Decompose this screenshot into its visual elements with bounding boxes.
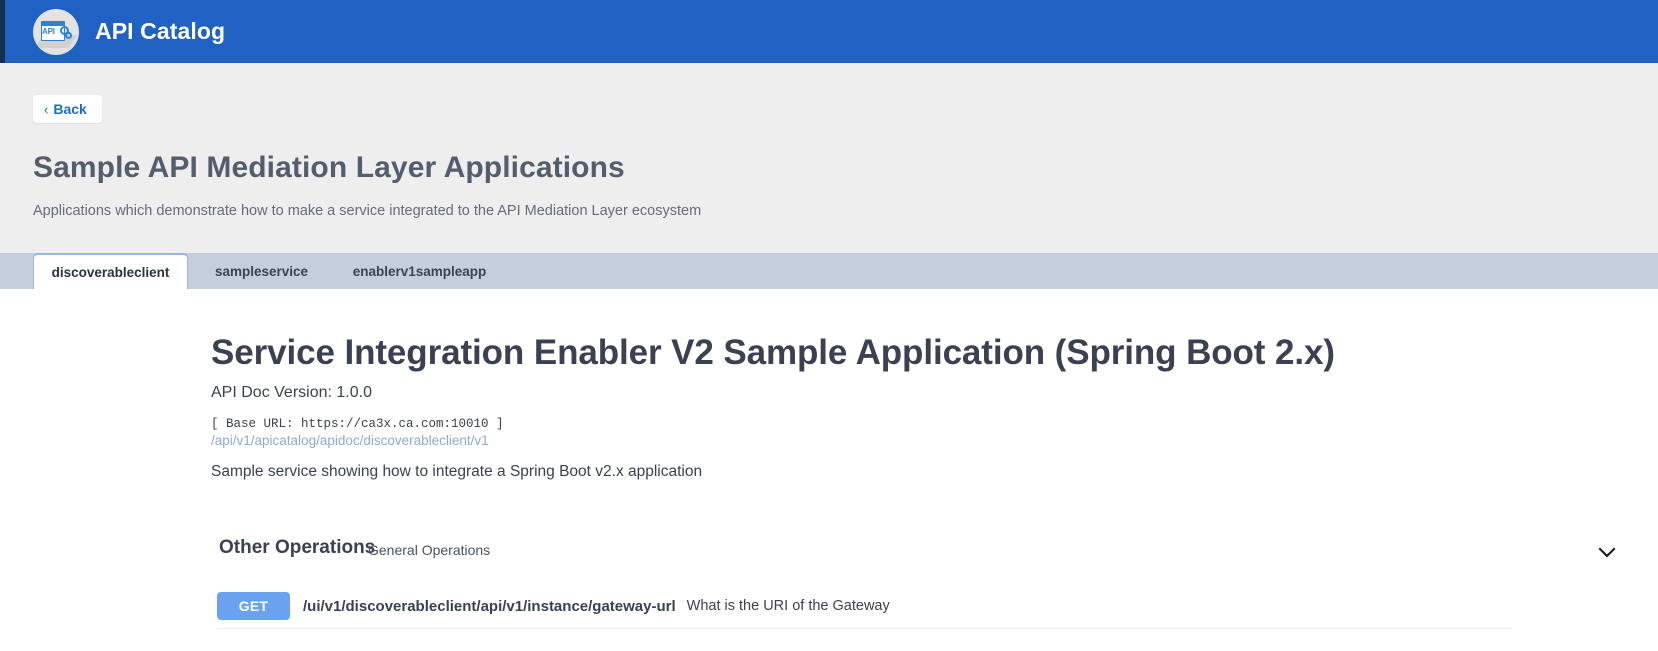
app-title: API Catalog [95, 18, 225, 45]
tab-label: sampleservice [215, 264, 308, 279]
api-doc-version: API Doc Version: 1.0.0 [211, 384, 372, 402]
logo-text: API [42, 27, 55, 36]
http-method-badge: GET [217, 592, 290, 620]
chevron-left-icon: ‹ [44, 103, 48, 116]
page-subtitle: Applications which demonstrate how to ma… [33, 203, 701, 219]
detail-panel: ‹ Back Sample API Mediation Layer Applic… [0, 63, 1658, 253]
operation-path: /ui/v1/discoverableclient/api/v1/instanc… [303, 598, 676, 615]
api-spec-link[interactable]: /api/v1/apicatalog/apidoc/discoverablecl… [211, 433, 489, 448]
api-catalog-logo-icon: API [33, 9, 79, 55]
operations-header[interactable]: Other Operations General Operations [0, 531, 1658, 573]
back-button[interactable]: ‹ Back [33, 95, 102, 123]
tab-label: enablerv1sampleapp [353, 264, 487, 279]
operations-section: Other Operations General Operations GET … [0, 531, 1658, 573]
left-rail [0, 0, 5, 63]
chevron-down-icon[interactable] [1594, 539, 1620, 565]
page-title: Sample API Mediation Layer Applications [33, 151, 625, 185]
gear-small-icon [65, 32, 72, 39]
operations-title: Other Operations [219, 537, 375, 559]
api-base-url: [ Base URL: https://ca3x.ca.com:10010 ] [211, 417, 504, 431]
operation-summary: What is the URI of the Gateway [687, 598, 890, 614]
tab-sampleservice[interactable]: sampleservice [200, 253, 323, 289]
api-catalog-page: API API Catalog ‹ Back Sample API Mediat… [0, 0, 1658, 651]
service-tab-strip: discoverableclient sampleservice enabler… [0, 253, 1658, 289]
api-doc-title: Service Integration Enabler V2 Sample Ap… [211, 333, 1335, 373]
api-doc-description: Sample service showing how to integrate … [211, 463, 702, 481]
operations-subtitle: General Operations [368, 542, 490, 558]
back-button-label: Back [53, 102, 86, 116]
tab-discoverableclient[interactable]: discoverableclient [33, 253, 188, 289]
api-doc-content: Service Integration Enabler V2 Sample Ap… [0, 289, 1658, 651]
app-header: API API Catalog [0, 0, 1658, 63]
operation-row[interactable]: GET /ui/v1/discoverableclient/api/v1/ins… [216, 583, 1513, 629]
tab-label: discoverableclient [52, 265, 170, 280]
tab-enablerv1sampleapp[interactable]: enablerv1sampleapp [337, 253, 502, 289]
